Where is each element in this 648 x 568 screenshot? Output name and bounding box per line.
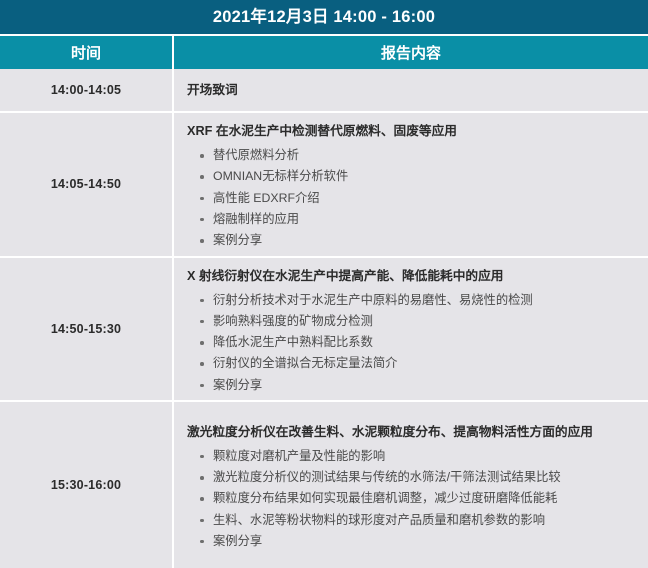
list-item-label: 衍射仪的全谱拟合无标定量法简介	[213, 356, 397, 370]
bullet-icon	[200, 362, 204, 366]
list-item-label: OMNIAN无标样分析软件	[213, 169, 348, 183]
table-header: 时间 报告内容	[0, 36, 648, 69]
session-title: 开场致词	[187, 82, 638, 99]
cell-time: 15:30-16:00	[0, 401, 173, 568]
list-item-label: 颗粒度对磨机产量及性能的影响	[213, 449, 385, 463]
table-row: 14:50-15:30 X 射线衍射仪在水泥生产中提高产能、降低能耗中的应用 衍…	[0, 257, 648, 402]
table-body: 14:00-14:05 开场致词 14:05-14:50 XRF 在水泥生产中检…	[0, 69, 648, 568]
list-item: 案例分享	[187, 535, 638, 547]
session-title: X 射线衍射仪在水泥生产中提高产能、降低能耗中的应用	[187, 267, 638, 285]
bullet-icon	[200, 175, 204, 179]
list-item-label: 颗粒度分布结果如何实现最佳磨机调整，减少过度研磨降低能耗	[213, 491, 557, 505]
bullet-icon	[200, 455, 204, 459]
column-header-content: 报告内容	[173, 36, 648, 69]
list-item-label: 替代原燃料分析	[213, 148, 299, 162]
list-item: 衍射仪的全谱拟合无标定量法简介	[187, 357, 638, 369]
list-item: 降低水泥生产中熟料配比系数	[187, 336, 638, 348]
list-item-label: 降低水泥生产中熟料配比系数	[213, 335, 373, 349]
agenda-table: 时间 报告内容 14:00-14:05 开场致词 14:05-14:50 XRF…	[0, 36, 648, 568]
list-item: 替代原燃料分析	[187, 149, 638, 161]
list-item: 熔融制样的应用	[187, 213, 638, 225]
agenda-page: 2021年12月3日 14:00 - 16:00 时间 报告内容 14:00-1…	[0, 0, 648, 559]
cell-time: 14:50-15:30	[0, 257, 173, 402]
list-item: 衍射分析技术对于水泥生产中原料的易磨性、易烧性的检测	[187, 294, 638, 306]
bullet-icon	[200, 239, 204, 243]
list-item: 影响熟料强度的矿物成分检测	[187, 315, 638, 327]
bullet-icon	[200, 218, 204, 222]
cell-content: XRF 在水泥生产中检测替代原燃料、固废等应用 替代原燃料分析 OMNIAN无标…	[173, 112, 648, 257]
bullet-icon	[200, 154, 204, 158]
bullet-icon	[200, 476, 204, 480]
list-item: OMNIAN无标样分析软件	[187, 170, 638, 182]
cell-time: 14:00-14:05	[0, 69, 173, 112]
session-title: XRF 在水泥生产中检测替代原燃料、固废等应用	[187, 122, 638, 140]
list-item-label: 案例分享	[213, 534, 262, 548]
bullet-icon	[200, 540, 204, 544]
list-item-label: 高性能 EDXRF介绍	[213, 191, 320, 205]
bullet-icon	[200, 497, 204, 501]
table-header-row: 时间 报告内容	[0, 36, 648, 69]
session-bullet-list: 替代原燃料分析 OMNIAN无标样分析软件 高性能 EDXRF介绍 熔融制样的应…	[187, 149, 638, 246]
bullet-icon	[200, 341, 204, 345]
list-item: 高性能 EDXRF介绍	[187, 192, 638, 204]
cell-content: X 射线衍射仪在水泥生产中提高产能、降低能耗中的应用 衍射分析技术对于水泥生产中…	[173, 257, 648, 402]
list-item-label: 案例分享	[213, 233, 262, 247]
table-row: 14:05-14:50 XRF 在水泥生产中检测替代原燃料、固废等应用 替代原燃…	[0, 112, 648, 257]
session-bullet-list: 颗粒度对磨机产量及性能的影响 激光粒度分析仪的测试结果与传统的水筛法/干筛法测试…	[187, 450, 638, 547]
list-item: 案例分享	[187, 234, 638, 246]
list-item: 颗粒度对磨机产量及性能的影响	[187, 450, 638, 462]
page-title: 2021年12月3日 14:00 - 16:00	[213, 9, 435, 26]
bullet-icon	[200, 384, 204, 388]
title-banner: 2021年12月3日 14:00 - 16:00	[0, 0, 648, 34]
list-item-label: 衍射分析技术对于水泥生产中原料的易磨性、易烧性的检测	[213, 293, 533, 307]
list-item-label: 影响熟料强度的矿物成分检测	[213, 314, 373, 328]
column-header-time: 时间	[0, 36, 173, 69]
list-item-label: 生料、水泥等粉状物料的球形度对产品质量和磨机参数的影响	[213, 513, 545, 527]
list-item-label: 案例分享	[213, 378, 262, 392]
cell-content: 开场致词	[173, 69, 648, 112]
list-item: 颗粒度分布结果如何实现最佳磨机调整，减少过度研磨降低能耗	[187, 492, 638, 504]
list-item-label: 激光粒度分析仪的测试结果与传统的水筛法/干筛法测试结果比较	[213, 470, 561, 484]
list-item: 生料、水泥等粉状物料的球形度对产品质量和磨机参数的影响	[187, 514, 638, 526]
cell-content: 激光粒度分析仪在改善生料、水泥颗粒度分布、提高物料活性方面的应用 颗粒度对磨机产…	[173, 401, 648, 568]
list-item: 案例分享	[187, 379, 638, 391]
session-title: 激光粒度分析仪在改善生料、水泥颗粒度分布、提高物料活性方面的应用	[187, 423, 638, 441]
cell-time: 14:05-14:50	[0, 112, 173, 257]
bullet-icon	[200, 299, 204, 303]
bullet-icon	[200, 320, 204, 324]
bullet-icon	[200, 197, 204, 201]
list-item: 激光粒度分析仪的测试结果与传统的水筛法/干筛法测试结果比较	[187, 471, 638, 483]
list-item-label: 熔融制样的应用	[213, 212, 299, 226]
bullet-icon	[200, 519, 204, 523]
table-row: 15:30-16:00 激光粒度分析仪在改善生料、水泥颗粒度分布、提高物料活性方…	[0, 401, 648, 568]
session-bullet-list: 衍射分析技术对于水泥生产中原料的易磨性、易烧性的检测 影响熟料强度的矿物成分检测…	[187, 294, 638, 391]
table-row: 14:00-14:05 开场致词	[0, 69, 648, 112]
